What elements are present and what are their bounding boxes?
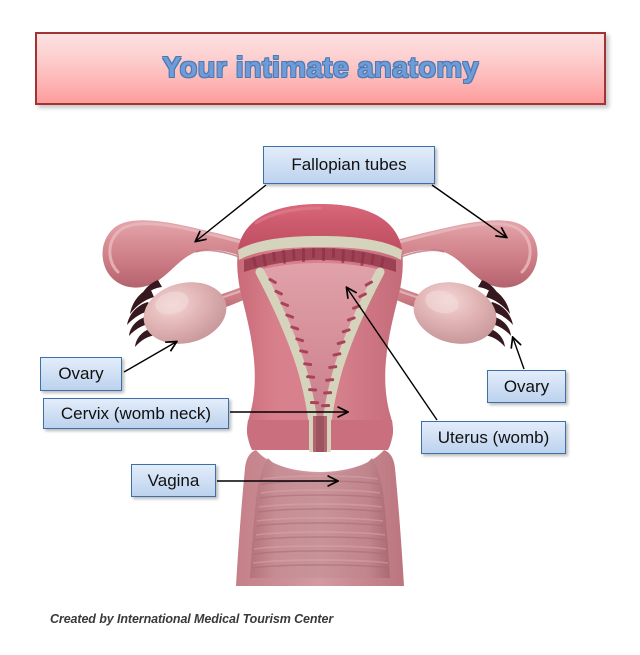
label-fallopian-tubes[interactable]: Fallopian tubes (263, 146, 435, 184)
label-vagina-text: Vagina (148, 471, 200, 491)
page-title: Your intimate anatomy (162, 52, 479, 85)
label-fallopian-tubes-text: Fallopian tubes (291, 155, 406, 175)
label-vagina[interactable]: Vagina (131, 464, 216, 497)
label-cervix[interactable]: Cervix (womb neck) (43, 398, 229, 429)
label-ovary-right-text: Ovary (504, 377, 549, 397)
label-ovary-left-text: Ovary (58, 364, 103, 384)
label-cervix-text: Cervix (womb neck) (61, 404, 211, 424)
cervix (247, 416, 393, 452)
label-uterus[interactable]: Uterus (womb) (421, 421, 566, 454)
label-uterus-text: Uterus (womb) (438, 428, 549, 448)
label-ovary-right[interactable]: Ovary (487, 370, 566, 403)
title-banner: Your intimate anatomy (35, 32, 606, 105)
label-ovary-left[interactable]: Ovary (40, 357, 122, 391)
footer-credit: Created by International Medical Tourism… (50, 612, 333, 626)
